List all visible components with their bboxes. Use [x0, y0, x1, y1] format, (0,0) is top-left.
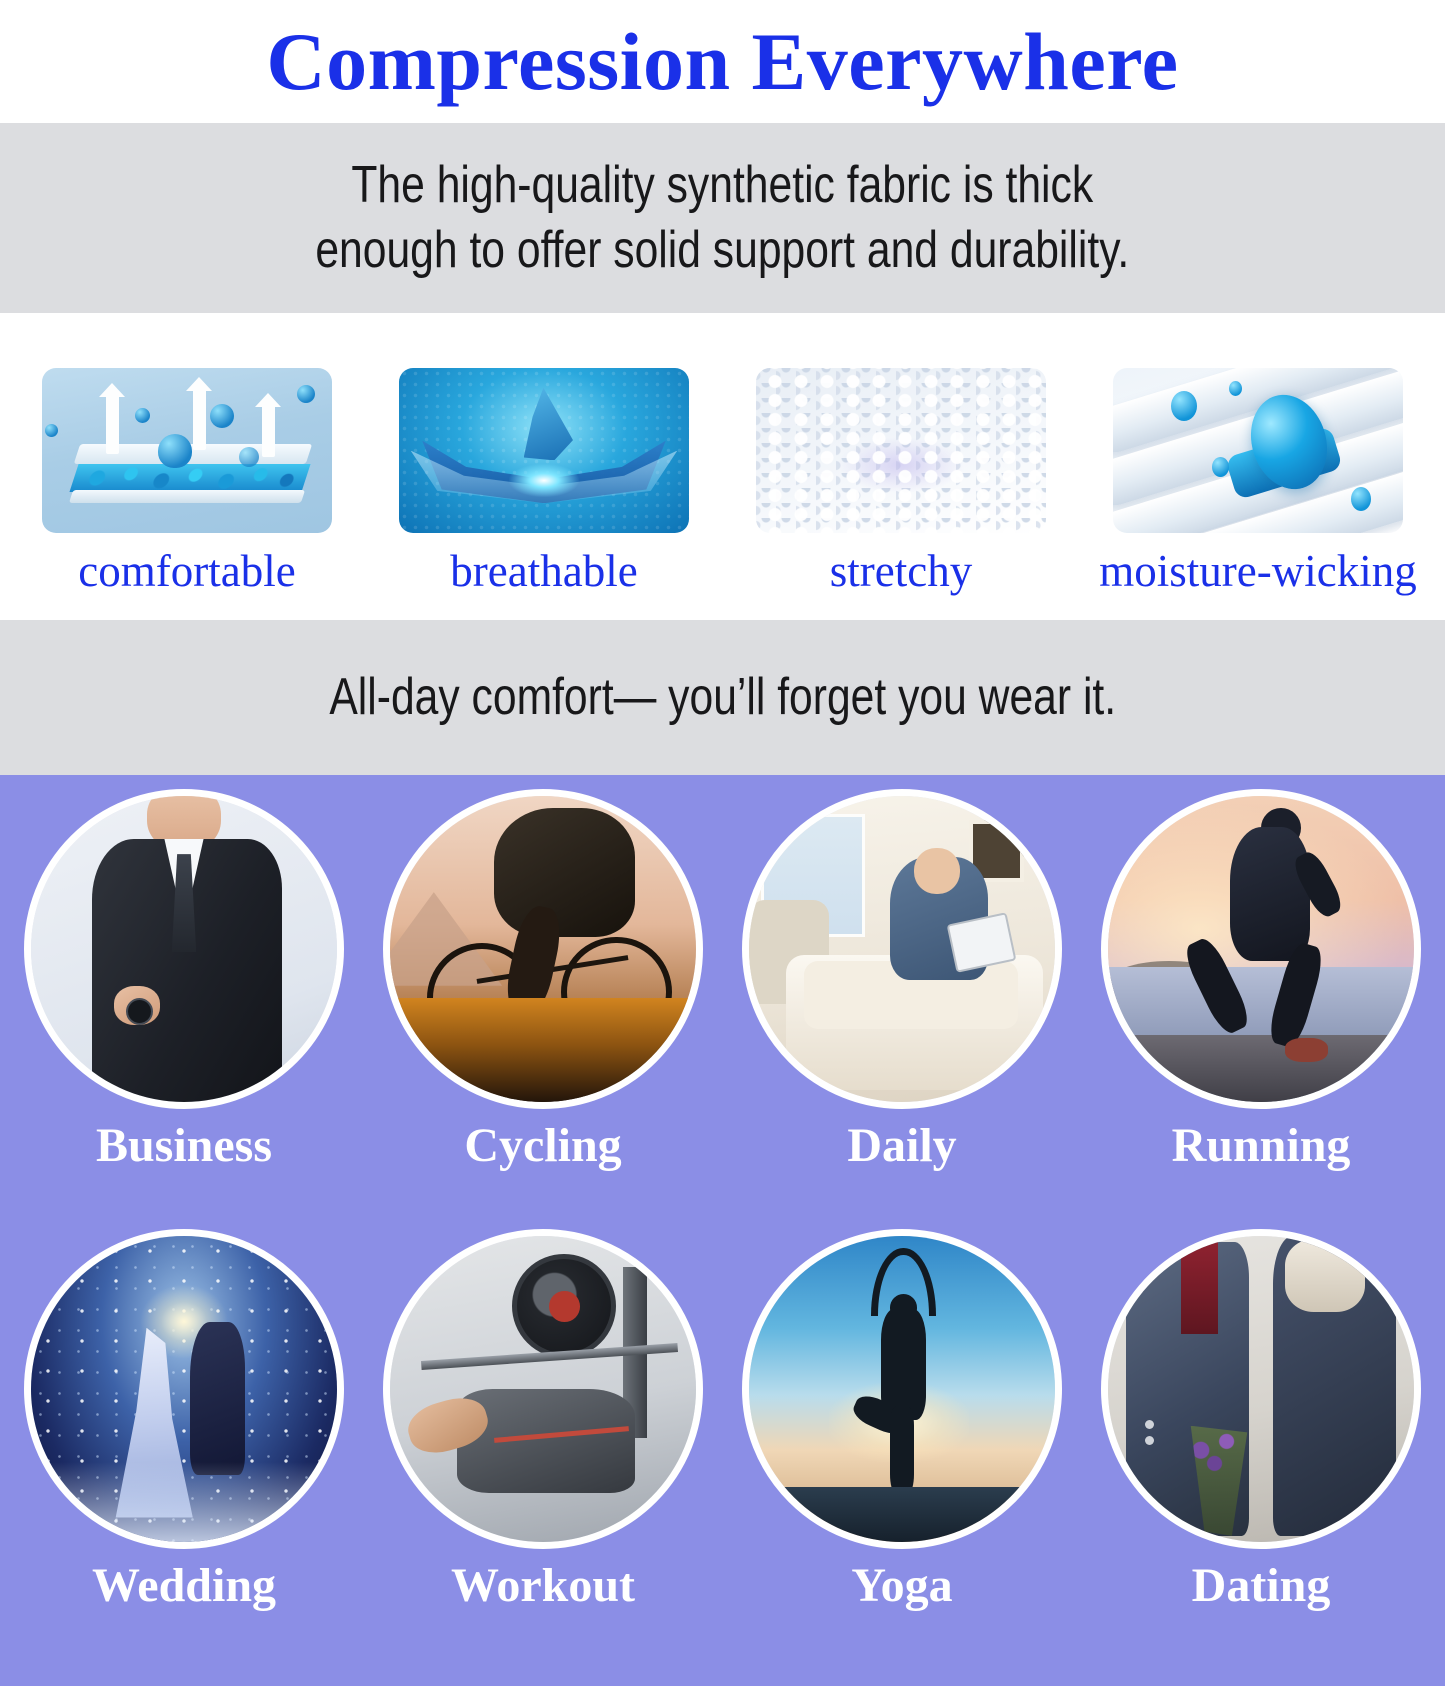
lifestyle-label: Daily	[847, 1122, 956, 1170]
lifestyle-item-cycling: Cycling	[373, 789, 713, 1229]
man-on-sofa-tablet-photo	[742, 789, 1062, 1109]
tree-pose-silhouette-photo	[742, 1229, 1062, 1549]
white-knit-mesh-icon	[756, 368, 1046, 533]
feature-row: comfortable breathable stretchy moisture…	[0, 313, 1445, 620]
description-line-1: The high-quality synthetic fabric is thi…	[352, 156, 1094, 214]
feature-breathable: breathable	[382, 368, 706, 594]
blue-cloth-airflow-icon	[399, 368, 689, 533]
gym-bench-press-photo	[383, 1229, 703, 1549]
bride-and-groom-photo	[24, 1229, 344, 1549]
feature-label: breathable	[450, 549, 637, 594]
lifestyle-item-wedding: Wedding	[14, 1229, 354, 1669]
description-line-2: enough to offer solid support and durabi…	[316, 221, 1130, 279]
lifestyle-label: Workout	[451, 1562, 635, 1610]
comfort-text: All-day comfort— you’ll forget you wear …	[329, 666, 1116, 728]
lifestyle-label: Yoga	[851, 1562, 952, 1610]
lifestyle-item-business: Business	[14, 789, 354, 1229]
description-banner: The high-quality synthetic fabric is thi…	[0, 123, 1445, 313]
lifestyle-item-yoga: Yoga	[732, 1229, 1072, 1669]
lifestyle-item-daily: Daily	[732, 789, 1072, 1229]
page-title: Compression Everywhere	[266, 21, 1178, 103]
mountain-biker-sunset-photo	[383, 789, 703, 1109]
fabric-layers-airflow-icon	[42, 368, 332, 533]
comfort-banner: All-day comfort— you’ll forget you wear …	[0, 620, 1445, 775]
man-in-suit-photo	[24, 789, 344, 1109]
lifestyle-label: Running	[1172, 1122, 1351, 1170]
feature-comfortable: comfortable	[25, 368, 349, 594]
fiber-water-droplet-icon	[1113, 368, 1403, 533]
lifestyle-label: Dating	[1192, 1562, 1331, 1610]
feature-label: comfortable	[78, 549, 295, 594]
feature-label: moisture-wicking	[1099, 549, 1416, 594]
lifestyle-label: Business	[96, 1122, 272, 1170]
feature-stretchy: stretchy	[739, 368, 1063, 594]
runner-silhouette-sunset-photo	[1101, 789, 1421, 1109]
lifestyle-item-running: Running	[1091, 789, 1431, 1229]
lifestyle-item-dating: Dating	[1091, 1229, 1431, 1669]
feature-moisture-wicking: moisture-wicking	[1096, 368, 1420, 594]
lifestyle-label: Wedding	[92, 1562, 276, 1610]
description-text: The high-quality synthetic fabric is thi…	[316, 153, 1130, 283]
lifestyle-item-workout: Workout	[373, 1229, 713, 1669]
title-banner: Compression Everywhere	[0, 0, 1445, 123]
couple-with-flowers-photo	[1101, 1229, 1421, 1549]
feature-label: stretchy	[830, 549, 972, 594]
lifestyle-row-2: Wedding Workout Yoga	[0, 1229, 1445, 1669]
lifestyle-section: Business Cycling Daily	[0, 775, 1445, 1686]
lifestyle-row-1: Business Cycling Daily	[0, 789, 1445, 1229]
lifestyle-label: Cycling	[464, 1122, 621, 1170]
